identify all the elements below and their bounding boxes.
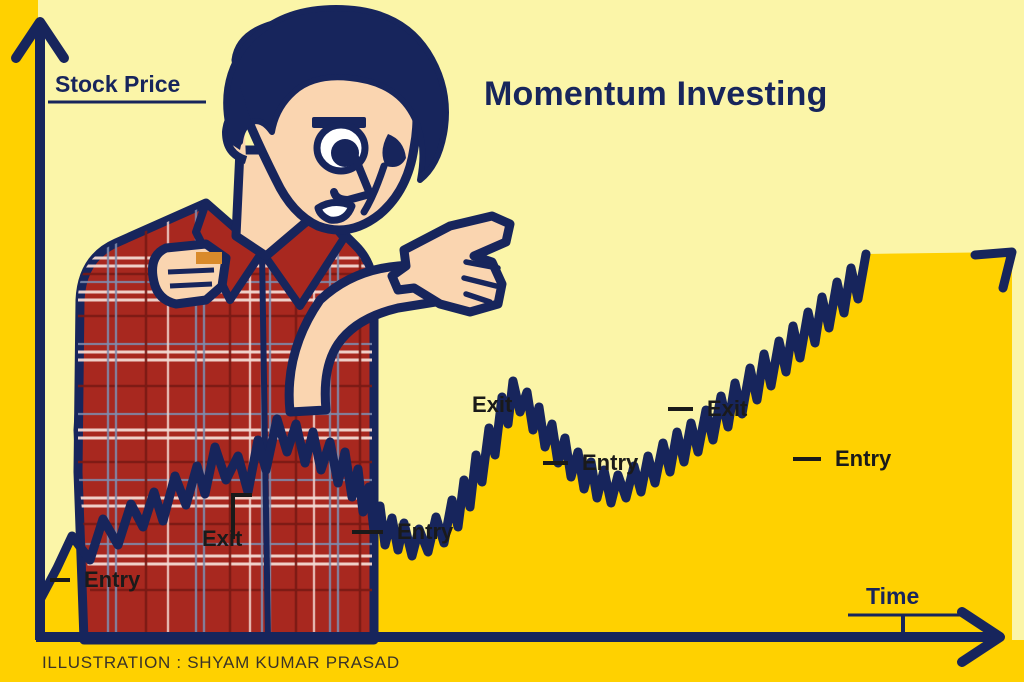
price-line	[40, 254, 866, 600]
chart-layer: Stock Price Time EntryExitEntryExitEntry…	[0, 0, 1024, 682]
credit-line: ILLUSTRATION : SHYAM KUMAR PRASAD	[42, 653, 400, 672]
marker-entry-1: Entry	[50, 567, 141, 592]
marker-exit-2: Exit	[472, 392, 513, 417]
marker-label-entry-3: Entry	[582, 450, 639, 475]
x-axis-label: Time	[866, 583, 919, 609]
y-axis-label: Stock Price	[55, 71, 180, 97]
marker-label-exit-3: Exit	[707, 396, 748, 421]
marker-label-entry-1: Entry	[84, 567, 141, 592]
marker-label-exit-2: Exit	[472, 392, 513, 417]
marker-exit-1: Exit	[202, 495, 252, 551]
marker-entry-4: Entry	[793, 446, 892, 471]
page-title: Momentum Investing	[484, 75, 828, 113]
marker-exit-3: Exit	[668, 396, 748, 421]
marker-label-entry-2: Entry	[397, 519, 454, 544]
price-line-arrowhead	[975, 252, 1012, 288]
marker-label-entry-4: Entry	[835, 446, 892, 471]
marker-label-exit-1: Exit	[202, 526, 243, 551]
illustration-canvas: Stock Price Time EntryExitEntryExitEntry…	[0, 0, 1024, 682]
marker-entry-2: Entry	[352, 519, 454, 544]
